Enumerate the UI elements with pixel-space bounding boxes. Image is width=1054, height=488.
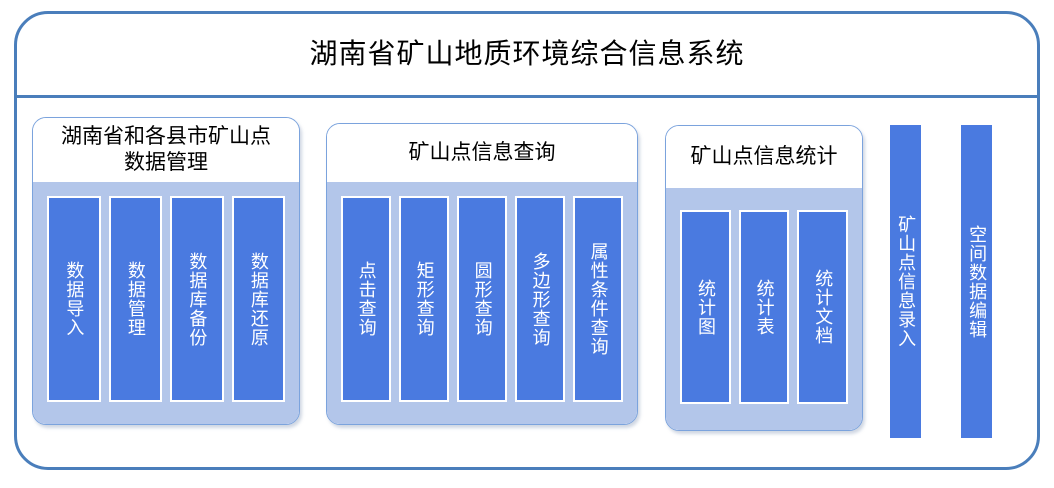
module-item-label: 数据管理 bbox=[125, 261, 146, 337]
module-item-attribute-query[interactable]: 属性条件查询 bbox=[573, 196, 623, 402]
module-title-mine-point-statistics: 矿山点信息统计 bbox=[691, 144, 838, 170]
module-title-line-2: 数据管理 bbox=[124, 151, 208, 174]
module-item-label: 统计图 bbox=[695, 279, 716, 336]
module-item-polygon-query[interactable]: 多边形查询 bbox=[515, 196, 565, 402]
diagram-canvas: 湖南省矿山地质环境综合信息系统 湖南省和各县市矿山点 数据管理 数据导入 数据管… bbox=[0, 0, 1054, 488]
module-panel-mine-point-query[interactable]: 矿山点信息查询 点击查询 矩形查询 圆形查询 多边形查询 属性条件查询 bbox=[326, 123, 638, 425]
module-header-mine-point-statistics: 矿山点信息统计 bbox=[666, 126, 862, 188]
module-item-statistics-table[interactable]: 统计表 bbox=[739, 210, 790, 404]
module-item-statistics-chart[interactable]: 统计图 bbox=[680, 210, 731, 404]
module-item-label: 矩形查询 bbox=[413, 261, 434, 337]
module-item-label: 多边形查询 bbox=[529, 252, 550, 347]
module-mine-point-entry[interactable]: 矿山点信息录入 bbox=[890, 125, 921, 438]
system-title-band: 湖南省矿山地质环境综合信息系统 bbox=[17, 14, 1037, 98]
module-item-db-restore[interactable]: 数据库还原 bbox=[232, 196, 286, 402]
module-label-mine-point-entry: 矿山点信息录入 bbox=[895, 215, 916, 348]
module-header-data-management: 湖南省和各县市矿山点 数据管理 bbox=[33, 118, 299, 182]
module-item-circle-query[interactable]: 圆形查询 bbox=[457, 196, 507, 402]
module-item-label: 点击查询 bbox=[355, 261, 376, 337]
module-item-label: 圆形查询 bbox=[471, 261, 492, 337]
module-item-label: 数据库备份 bbox=[186, 252, 207, 347]
module-title-line-1: 湖南省和各县市矿山点 bbox=[61, 125, 271, 148]
module-body-mine-point-statistics: 统计图 统计表 统计文档 bbox=[666, 188, 862, 430]
module-item-data-import[interactable]: 数据导入 bbox=[47, 196, 101, 402]
module-header-mine-point-query: 矿山点信息查询 bbox=[327, 124, 637, 182]
module-panel-mine-point-statistics[interactable]: 矿山点信息统计 统计图 统计表 统计文档 bbox=[665, 125, 863, 431]
module-item-label: 统计表 bbox=[753, 279, 774, 336]
module-item-label: 数据导入 bbox=[63, 261, 84, 337]
module-item-click-query[interactable]: 点击查询 bbox=[341, 196, 391, 402]
module-title-mine-point-query: 矿山点信息查询 bbox=[409, 140, 556, 166]
module-label-spatial-data-edit: 空间数据编辑 bbox=[966, 225, 987, 339]
module-item-db-backup[interactable]: 数据库备份 bbox=[170, 196, 224, 402]
module-item-label: 统计文档 bbox=[812, 269, 833, 345]
module-spatial-data-edit[interactable]: 空间数据编辑 bbox=[961, 125, 992, 438]
module-item-statistics-document[interactable]: 统计文档 bbox=[797, 210, 848, 404]
module-item-label: 属性条件查询 bbox=[587, 242, 608, 356]
module-item-label: 数据库还原 bbox=[248, 252, 269, 347]
system-title: 湖南省矿山地质环境综合信息系统 bbox=[309, 39, 744, 70]
module-body-data-management: 数据导入 数据管理 数据库备份 数据库还原 bbox=[33, 182, 299, 424]
module-body-mine-point-query: 点击查询 矩形查询 圆形查询 多边形查询 属性条件查询 bbox=[327, 182, 637, 424]
module-item-rectangle-query[interactable]: 矩形查询 bbox=[399, 196, 449, 402]
module-item-data-manage[interactable]: 数据管理 bbox=[109, 196, 163, 402]
module-title-data-management: 湖南省和各县市矿山点 数据管理 bbox=[61, 124, 271, 177]
module-panel-data-management[interactable]: 湖南省和各县市矿山点 数据管理 数据导入 数据管理 数据库备份 数据库还原 bbox=[32, 117, 300, 425]
